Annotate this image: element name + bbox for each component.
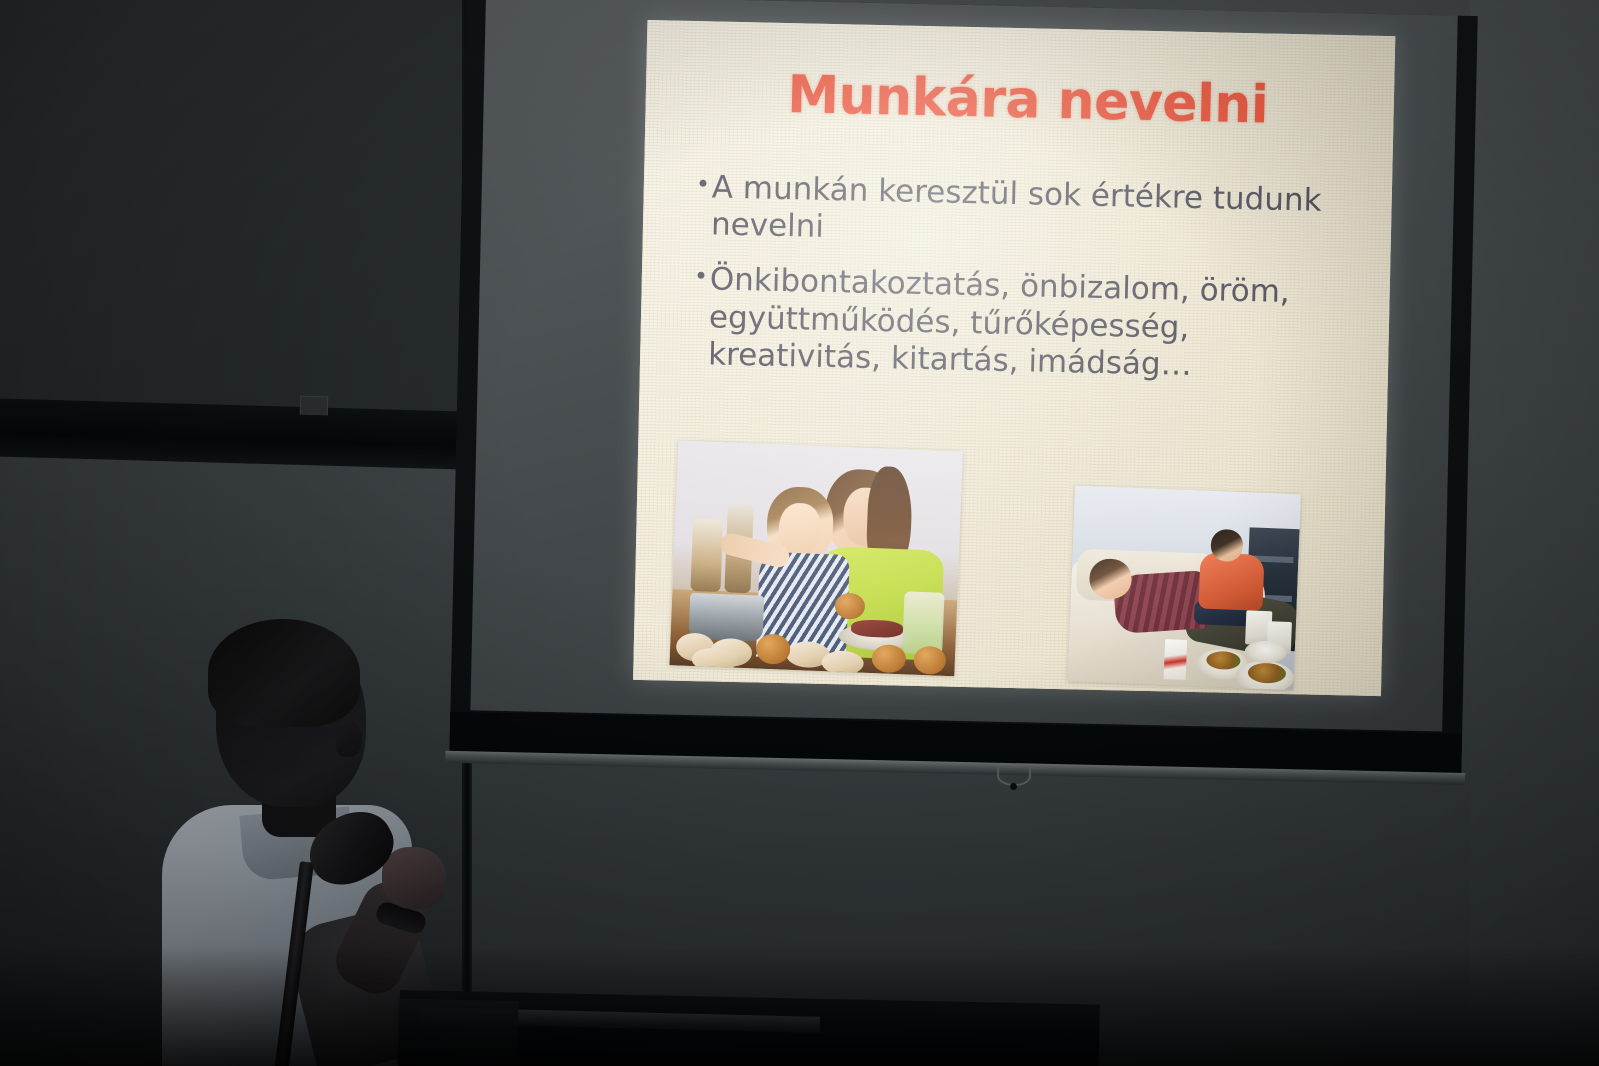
bullet-marker-icon: • bbox=[694, 261, 711, 293]
kitchen-jar bbox=[690, 519, 723, 592]
bullet-marker-icon: • bbox=[696, 169, 713, 201]
slide-bullet-list: • A munkán keresztül sok értékre tudunk … bbox=[691, 169, 1356, 405]
slide-bullet-text: A munkán keresztül sok értékre tudunk ne… bbox=[711, 169, 1356, 257]
slide-bullet-item: • A munkán keresztül sok értékre tudunk … bbox=[695, 169, 1356, 258]
screen-surface: Munkára nevelni • A munkán keresztül sok… bbox=[470, 0, 1457, 731]
takeout-bag bbox=[1164, 639, 1188, 680]
slide-title: Munkára nevelni bbox=[687, 67, 1368, 135]
slide-bullet-item: • Önkibontakoztatás, önbizalom, öröm, eg… bbox=[692, 261, 1354, 387]
lectern-side-panel bbox=[397, 999, 518, 1066]
photo-mother-and-child-cooking bbox=[669, 440, 963, 676]
left-wall-lower-panel bbox=[0, 452, 474, 1066]
girl-orange-jacket bbox=[1198, 552, 1264, 610]
right-wall-section bbox=[1470, 0, 1599, 1066]
slide-bullet-text: Önkibontakoztatás, önbizalom, öröm, együ… bbox=[708, 262, 1354, 388]
presentation-room-scene: Munkára nevelni • A munkán keresztül sok… bbox=[0, 0, 1599, 1066]
photo-children-on-couch-with-takeout bbox=[1067, 485, 1301, 690]
projected-slide: Munkára nevelni • A munkán keresztül sok… bbox=[633, 20, 1395, 696]
pull-down-projection-screen: Munkára nevelni • A munkán keresztül sok… bbox=[449, 0, 1478, 784]
wall-fixture bbox=[300, 396, 329, 416]
kitchen-jar bbox=[902, 591, 944, 655]
